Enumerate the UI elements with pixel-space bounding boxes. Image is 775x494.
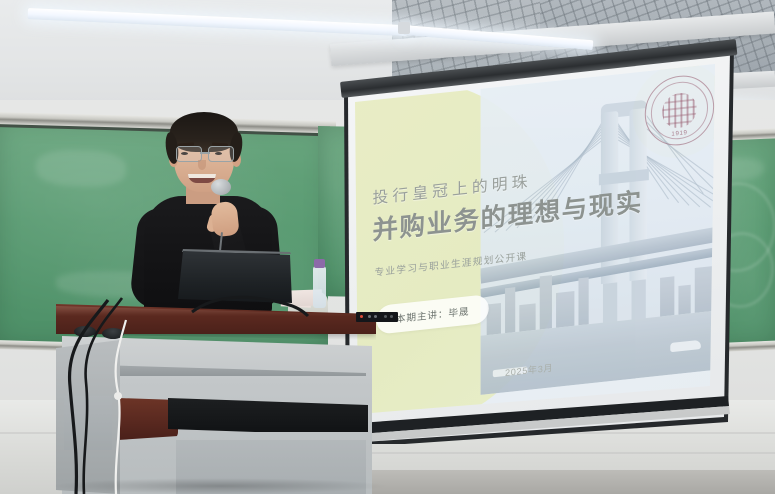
glasses-lens-right xyxy=(208,146,234,162)
presentation-slide: 1919 投行皇冠上的明珠 并购业务的理想与现实 专业学习与职业生涯规划公开课 … xyxy=(336,44,736,444)
microphone-head-icon xyxy=(211,179,231,195)
hanging-cables xyxy=(48,296,178,494)
nose xyxy=(198,160,206,170)
podium-top-cable xyxy=(190,292,310,318)
lecture-hall-photo: 1919 投行皇冠上的明珠 并购业务的理想与现实 专业学习与职业生涯规划公开课 … xyxy=(0,0,775,494)
water-bottle-cap xyxy=(314,259,325,268)
glasses-bridge xyxy=(200,152,210,154)
floor xyxy=(330,470,775,494)
podium-control-panel[interactable] xyxy=(356,312,398,322)
wall-seam-lower xyxy=(336,452,775,454)
hand-holding-microphone xyxy=(210,201,239,238)
projection-screen: 1919 投行皇冠上的明珠 并购业务的理想与现实 专业学习与职业生涯规划公开课 … xyxy=(336,44,736,444)
light-bracket xyxy=(398,22,410,34)
